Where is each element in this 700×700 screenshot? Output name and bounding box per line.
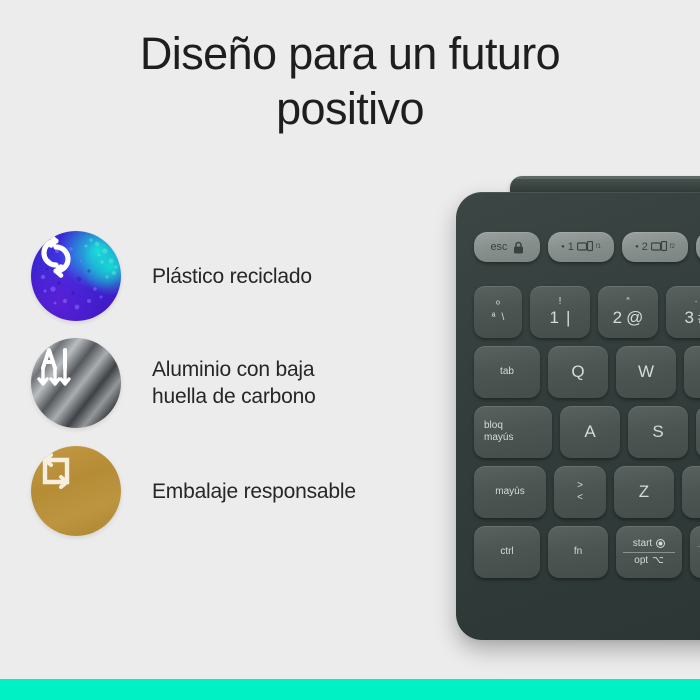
key-e[interactable]: E (684, 346, 700, 398)
key-tab[interactable]: tab (474, 346, 540, 398)
key-cmd[interactable]: c (690, 526, 700, 578)
key-fn[interactable]: fn (548, 526, 608, 578)
key-ctrl[interactable]: ctrl (474, 526, 540, 578)
windows-icon (656, 539, 665, 548)
option-icon: ⌥ (652, 555, 664, 567)
key-a[interactable]: A (560, 406, 620, 458)
device-switch-icon (651, 241, 667, 253)
packaging-badge (31, 446, 121, 536)
feature-item-recycled-plastic: Plástico reciclado (31, 231, 312, 321)
key-angle-brackets[interactable]: > < (554, 466, 606, 518)
aluminium-badge (31, 338, 121, 428)
key-z[interactable]: Z (614, 466, 674, 518)
key-w[interactable]: W (616, 346, 676, 398)
feature-item-packaging: Embalaje responsable (31, 446, 356, 536)
feature-label-aluminium: Aluminio con baja huella de carbono (152, 356, 316, 410)
key-start-opt[interactable]: start opt ⌥ (616, 526, 682, 578)
key-x[interactable]: X (682, 466, 700, 518)
page-title: Diseño para un futuro positivo (0, 26, 700, 136)
aluminium-low-carbon-icon (31, 338, 121, 428)
key-divider (697, 546, 700, 547)
key-2[interactable]: “ 2 @ (598, 286, 658, 338)
key-bloq-mayus[interactable]: bloq mayús (474, 406, 552, 458)
key-f1[interactable]: ● 1 f1 (548, 232, 614, 262)
keyboard-product-image: esc ● 1 f1 (434, 176, 700, 646)
keyboard-keys: esc ● 1 f1 (456, 192, 700, 640)
feature-label-recycled-plastic: Plástico reciclado (152, 263, 312, 290)
key-s[interactable]: S (628, 406, 688, 458)
key-d[interactable]: D (696, 406, 700, 458)
key-f3[interactable]: ● 3 (696, 232, 700, 262)
page-title-line-2: positivo (0, 81, 700, 136)
device-switch-icon (577, 241, 593, 253)
key-ordinal[interactable]: º ª \ (474, 286, 522, 338)
key-divider (623, 552, 676, 553)
key-f2[interactable]: ● 2 f2 (622, 232, 688, 262)
feature-item-aluminium: Aluminio con baja huella de carbono (31, 338, 316, 428)
key-esc[interactable]: esc (474, 232, 540, 262)
recycled-plastic-badge (31, 231, 121, 321)
lock-icon (513, 241, 524, 254)
key-1[interactable]: ! 1 | (530, 286, 590, 338)
key-3[interactable]: · 3 # (666, 286, 700, 338)
key-mayus[interactable]: mayús (474, 466, 546, 518)
feature-label-packaging: Embalaje responsable (152, 478, 356, 505)
promo-page: Diseño para un futuro positivo (0, 0, 700, 700)
page-title-line-1: Diseño para un futuro (0, 26, 700, 81)
key-q[interactable]: Q (548, 346, 608, 398)
recycled-plastic-loop-icon (31, 231, 121, 321)
accent-bar (0, 679, 700, 700)
responsible-packaging-icon (31, 446, 121, 536)
